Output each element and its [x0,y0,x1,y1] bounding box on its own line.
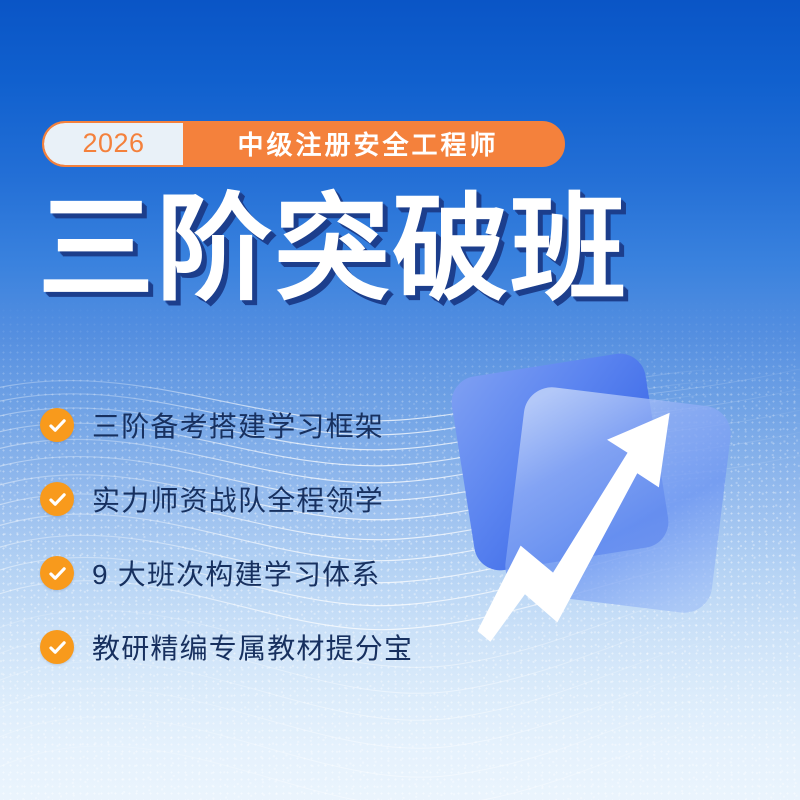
list-item: 9 大班次构建学习体系 [40,552,413,594]
feature-list: 三阶备考搭建学习框架 实力师资战队全程领学 9 大班次构建学习体系 [40,404,413,668]
check-circle-icon [40,408,74,442]
promo-poster: 2026 中级注册安全工程师 三阶突破班 [0,0,800,800]
page-title: 三阶突破班 [38,189,628,311]
list-item-label: 教研精编专属教材提分宝 [92,627,413,667]
check-circle-icon [40,630,74,664]
growth-chart-illustration [440,352,780,692]
check-circle-icon [40,482,74,516]
list-item-label: 三阶备考搭建学习框架 [92,405,384,445]
badge-exam-name: 中级注册安全工程师 [183,123,563,165]
list-item: 实力师资战队全程领学 [40,478,413,520]
badge-year: 2026 [44,123,183,165]
exam-badge: 2026 中级注册安全工程师 [42,121,565,167]
check-circle-icon [40,556,74,590]
list-item-label: 9 大班次构建学习体系 [92,553,381,593]
list-item-label: 实力师资战队全程领学 [92,479,384,519]
list-item: 教研精编专属教材提分宝 [40,626,413,668]
list-item: 三阶备考搭建学习框架 [40,404,413,446]
